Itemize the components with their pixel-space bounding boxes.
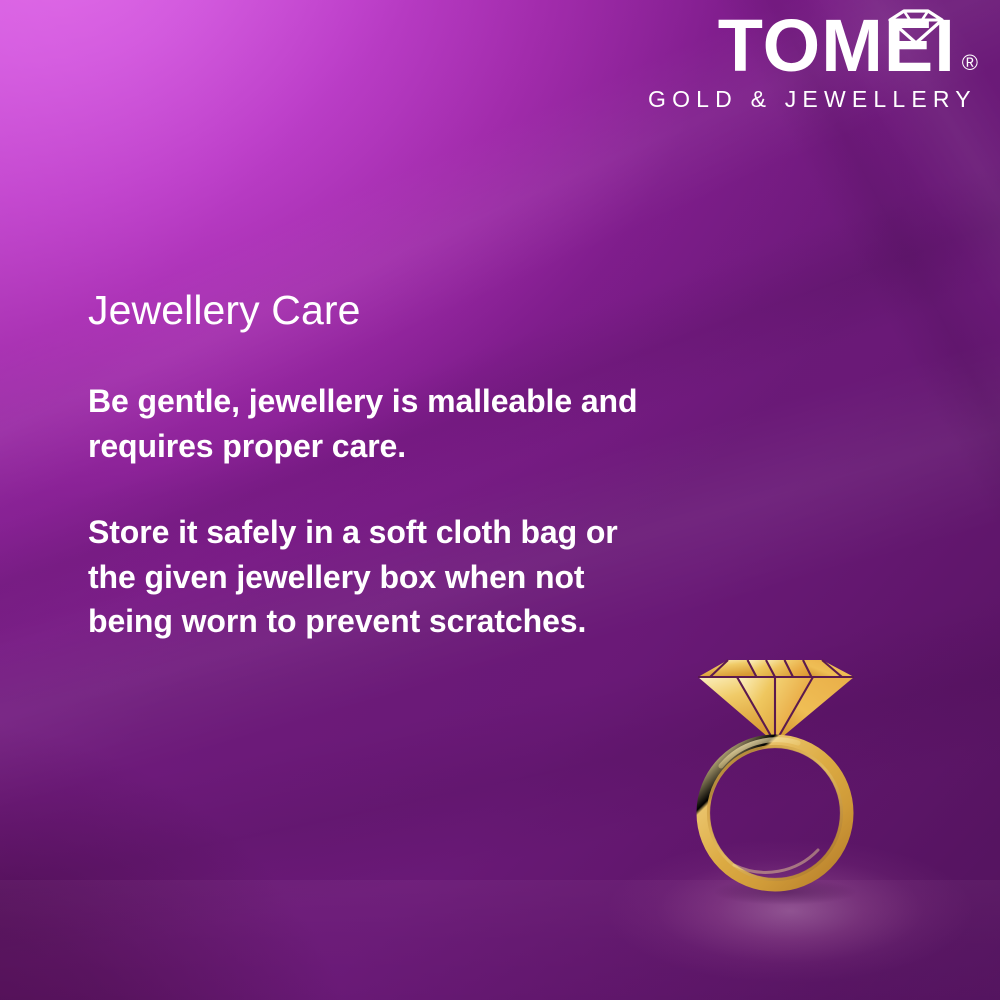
logo-tagline: GOLD & JEWELLERY <box>648 86 974 113</box>
ring-band <box>703 740 847 885</box>
care-paragraph-1: Be gentle, jewellery is malleable and re… <box>88 379 668 468</box>
gold-diamond-ring-illustration <box>690 645 880 905</box>
diamond-gem <box>698 660 854 743</box>
page-title: Jewellery Care <box>88 288 668 333</box>
copy-block: Jewellery Care Be gentle, jewellery is m… <box>88 288 668 643</box>
care-paragraph-2: Store it safely in a soft cloth bag or t… <box>88 510 668 643</box>
poster-canvas: TOMEI ® GOLD & JEWELLERY Jewellery Care … <box>0 0 1000 1000</box>
registered-trademark-icon: ® <box>962 52 978 74</box>
diamond-outline-icon <box>884 8 948 46</box>
brand-logo: TOMEI ® GOLD & JEWELLERY <box>648 10 978 113</box>
